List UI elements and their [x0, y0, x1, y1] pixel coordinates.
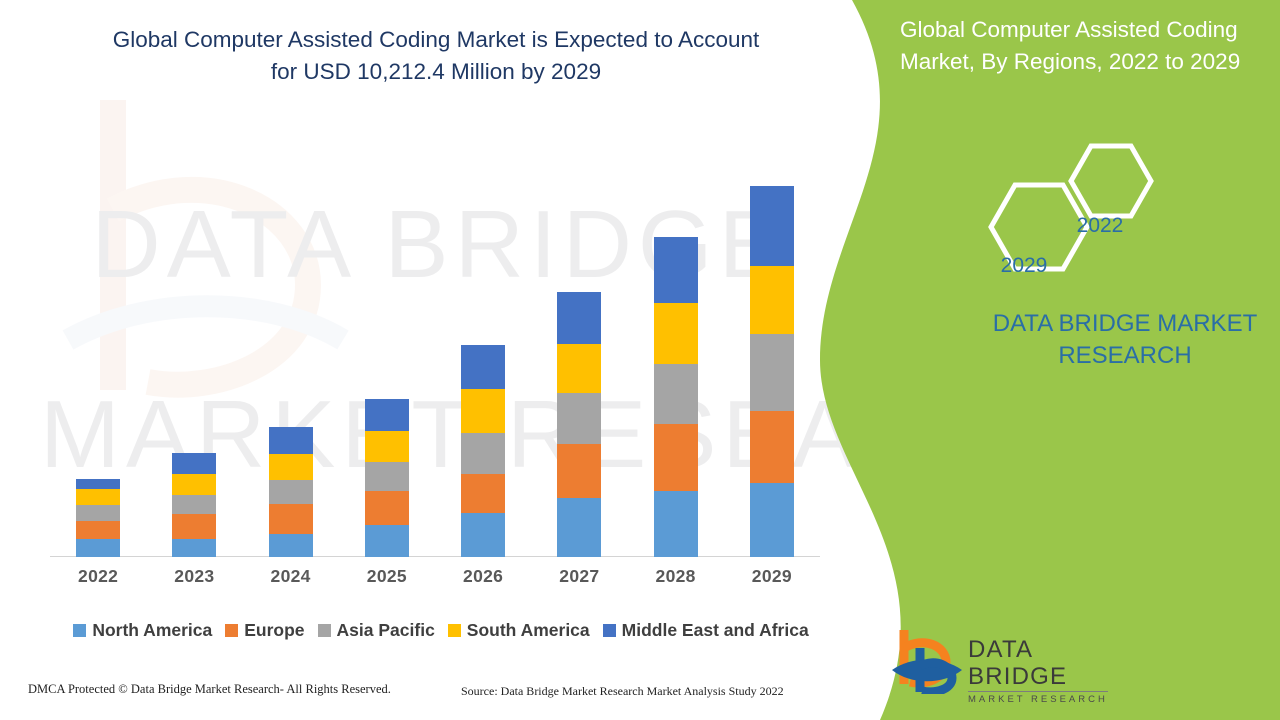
infographic-canvas: DATA BRIDGE MARKET RESEARCH Global Compu… — [0, 0, 1280, 720]
bar-segment — [365, 399, 409, 431]
legend-item[interactable]: South America — [448, 620, 590, 641]
bar-segment — [269, 504, 313, 534]
bar-segment — [172, 539, 216, 557]
bar-segment — [76, 521, 120, 539]
legend-item[interactable]: North America — [73, 620, 212, 641]
bar-segment — [654, 364, 698, 424]
hexagon-2029-label: 2029 — [989, 254, 1059, 278]
legend-label: Asia Pacific — [337, 620, 435, 641]
bar-segment — [365, 491, 409, 525]
chart-area: Global Computer Assisted Coding Market i… — [0, 0, 840, 720]
legend-item[interactable]: Middle East and Africa — [603, 620, 809, 641]
bar-segment — [76, 539, 120, 557]
x-axis-label-2023: 2023 — [146, 566, 242, 587]
legend-label: Europe — [244, 620, 304, 641]
data-bridge-logo-text: DATA BRIDGE MARKET RESEARCH — [968, 636, 1118, 706]
legend-label: Middle East and Africa — [622, 620, 809, 641]
bar-segment — [750, 411, 794, 483]
bar-segment — [172, 474, 216, 495]
bar-column-2023 — [172, 453, 216, 557]
legend-swatch-icon — [318, 624, 331, 637]
bar-segment — [557, 444, 601, 498]
bar-segment — [750, 334, 794, 411]
footer-copyright: DMCA Protected © Data Bridge Market Rese… — [28, 682, 391, 697]
bar-column-2024 — [269, 427, 313, 557]
bar-segment — [172, 514, 216, 539]
bar-segment — [365, 462, 409, 491]
legend-swatch-icon — [225, 624, 238, 637]
bar-segment — [461, 345, 505, 389]
x-axis-label-2026: 2026 — [435, 566, 531, 587]
x-axis-label-2022: 2022 — [50, 566, 146, 587]
hexagon-group: 2022 2029 — [975, 140, 1205, 275]
bar-segment — [750, 186, 794, 266]
bar-segment — [76, 489, 120, 505]
bar-segment — [750, 483, 794, 557]
hexagon-2022-label: 2022 — [1065, 214, 1135, 238]
bar-column-2022 — [76, 479, 120, 557]
bar-segment — [269, 534, 313, 557]
hexagon-2022 — [1071, 146, 1151, 216]
panel-title: Global Computer Assisted Coding Market, … — [900, 14, 1268, 78]
bar-segment — [557, 344, 601, 393]
x-axis-label-2028: 2028 — [628, 566, 724, 587]
legend-swatch-icon — [448, 624, 461, 637]
chart-legend: North AmericaEuropeAsia PacificSouth Ame… — [46, 617, 836, 643]
x-axis-label-2027: 2027 — [531, 566, 627, 587]
legend-label: South America — [467, 620, 590, 641]
x-axis-label-2029: 2029 — [724, 566, 820, 587]
bar-segment — [654, 424, 698, 491]
stacked-bar-plot — [50, 160, 820, 557]
bar-column-2029 — [750, 186, 794, 557]
logo-main-text: DATA BRIDGE — [968, 636, 1118, 690]
legend-label: North America — [92, 620, 212, 641]
logo-divider — [968, 691, 1108, 692]
bar-segment — [461, 474, 505, 513]
x-axis-label-2025: 2025 — [339, 566, 435, 587]
brand-name: DATA BRIDGE MARKET RESEARCH — [950, 308, 1280, 372]
bar-column-2028 — [654, 237, 698, 557]
bar-segment — [654, 303, 698, 364]
bar-segment — [654, 491, 698, 557]
chart-title: Global Computer Assisted Coding Market i… — [100, 24, 772, 88]
bar-segment — [557, 498, 601, 557]
bar-column-2026 — [461, 345, 505, 557]
bar-segment — [269, 427, 313, 454]
x-axis-labels: 20222023202420252026202720282029 — [50, 566, 820, 596]
bar-segment — [365, 431, 409, 462]
bar-segment — [76, 479, 120, 489]
bar-segment — [172, 453, 216, 474]
bar-segment — [76, 505, 120, 521]
bar-segment — [461, 389, 505, 433]
legend-item[interactable]: Europe — [225, 620, 304, 641]
bar-segment — [269, 480, 313, 504]
bar-segment — [365, 525, 409, 557]
bar-segment — [461, 513, 505, 557]
footer-source: Source: Data Bridge Market Research Mark… — [461, 684, 784, 699]
bar-segment — [557, 292, 601, 344]
bar-column-2025 — [365, 399, 409, 557]
bar-segment — [172, 495, 216, 514]
legend-swatch-icon — [73, 624, 86, 637]
x-axis-label-2024: 2024 — [243, 566, 339, 587]
legend-item[interactable]: Asia Pacific — [318, 620, 435, 641]
legend-swatch-icon — [603, 624, 616, 637]
data-bridge-logo-icon — [890, 626, 966, 694]
logo-sub-text: MARKET RESEARCH — [968, 694, 1118, 706]
bar-segment — [750, 266, 794, 334]
bar-column-2027 — [557, 292, 601, 557]
bar-segment — [654, 237, 698, 303]
bar-segment — [269, 454, 313, 480]
bar-segment — [557, 393, 601, 444]
bar-segment — [461, 433, 505, 474]
